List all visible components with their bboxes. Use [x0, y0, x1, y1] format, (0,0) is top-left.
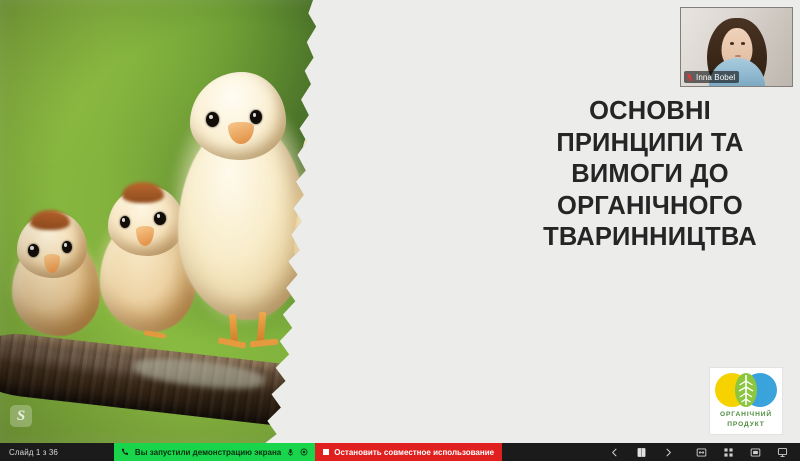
title-line-4: ОРГАНІЧНОГО [505, 191, 795, 223]
phone-icon[interactable] [121, 448, 129, 456]
chick-4-beak [336, 154, 358, 174]
slide-counter: Слайд 1 з 36 [0, 443, 67, 461]
chick-5 [352, 160, 488, 370]
microphone-icon[interactable] [287, 448, 294, 457]
slide-grid-button[interactable] [715, 443, 742, 461]
chick-5-eye-right [426, 200, 437, 213]
chick-5-beak [402, 210, 424, 230]
chick-4-cap [318, 106, 364, 128]
slide-page-icon[interactable] [628, 443, 655, 461]
participant-name: Inna Bobel [696, 73, 735, 82]
organic-product-logo: ОРГАНІЧНИЙ ПРОДУКТ [709, 367, 783, 435]
logo-line-1: ОРГАНІЧНИЙ [720, 410, 772, 420]
chick-4-toe-left [328, 335, 356, 347]
chick-4-eye-left [316, 144, 328, 158]
previous-slide-button[interactable] [601, 443, 628, 461]
stock-watermark-icon: S [10, 405, 32, 427]
mic-muted-icon [686, 73, 693, 82]
chick-5-eye-left [382, 200, 394, 214]
page-title: ОСНОВНІ ПРИНЦИПИ ТА ВИМОГИ ДО ОРГАНІЧНОГ… [505, 96, 795, 254]
participant-eye-right [741, 42, 745, 45]
stop-square-icon [323, 449, 329, 455]
photo-vignette [0, 0, 520, 443]
participant-video-thumbnail[interactable]: Inna Bobel [680, 7, 793, 87]
chick-4-fluff [290, 150, 410, 320]
title-line-1: ОСНОВНІ [505, 96, 795, 128]
screen-share-notice-text: Вы запустили демонстрацию экрана [135, 448, 281, 457]
chick-4-body [294, 156, 406, 318]
chick-5-cap-dark [380, 160, 444, 194]
chick-5-body [362, 210, 480, 346]
fit-to-screen-button[interactable] [688, 443, 715, 461]
record-icon[interactable] [300, 448, 308, 456]
logo-marks [715, 373, 777, 407]
logo-text: ОРГАНІЧНИЙ ПРОДУКТ [720, 410, 772, 429]
title-line-3: ВИМОГИ ДО [505, 159, 795, 191]
slide-navigation-controls [601, 443, 800, 461]
chicks-photo: S [0, 0, 520, 443]
chick-4-eye-right [356, 142, 367, 155]
logo-line-2: ПРОДУКТ [720, 420, 772, 430]
chick-5-head [372, 166, 460, 248]
chick-5-leg-left [405, 342, 414, 365]
chick-5-fluff [358, 206, 484, 348]
title-line-5: ТВАРИННИЦТВА [505, 222, 795, 254]
logo-leaf-icon [734, 372, 758, 408]
screen-share-notice-bar[interactable]: Вы запустили демонстрацию экрана [114, 443, 315, 461]
participant-eye-left [730, 42, 734, 45]
presenter-view-button[interactable] [742, 443, 769, 461]
title-line-2: ПРИНЦИПИ ТА [505, 128, 795, 160]
participant-name-label: Inna Bobel [684, 71, 739, 83]
chick-5-leg-right [431, 340, 440, 365]
chick-4-leg-right [365, 312, 375, 341]
chick-4-head [302, 110, 388, 190]
stop-share-button[interactable]: Остановить совместное использование [315, 443, 502, 461]
screen-share-window: S ОСНОВНІ ПРИНЦИПИ ТА ВИМОГИ ДО ОРГАНІЧН… [0, 0, 800, 461]
chick-4-leg-left [339, 314, 348, 341]
toolbar-spacer [502, 443, 601, 461]
bottom-toolbar: Слайд 1 з 36 Вы запустили демонстрацию э… [0, 443, 800, 461]
display-settings-button[interactable] [769, 443, 796, 461]
next-slide-button[interactable] [655, 443, 682, 461]
chick-4-toe-right [360, 336, 388, 345]
stop-share-label: Остановить совместное использование [334, 448, 494, 457]
participant-mouth [735, 55, 741, 57]
